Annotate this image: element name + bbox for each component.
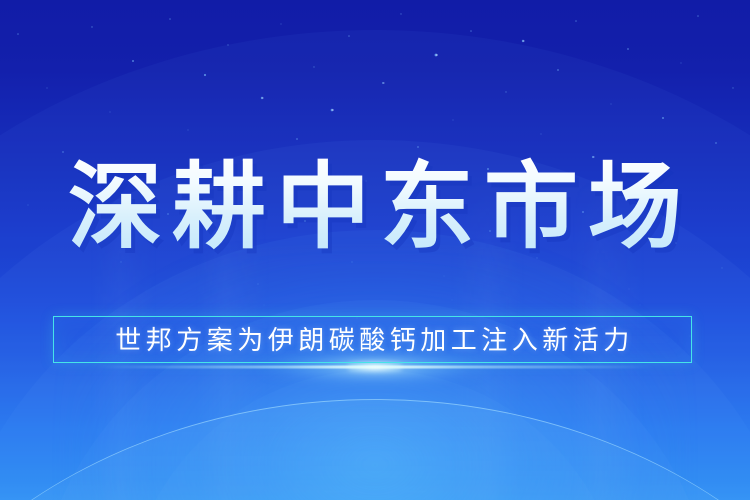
- subtitle-text: 世邦方案为伊朗碳酸钙加工注入新活力: [111, 327, 634, 353]
- page-title: 深耕中东市场: [0, 152, 750, 262]
- promo-banner: 深耕中东市场 世邦方案为伊朗碳酸钙加工注入新活力: [0, 0, 750, 500]
- banner-content: 深耕中东市场 世邦方案为伊朗碳酸钙加工注入新活力: [0, 0, 750, 500]
- subtitle-box: 世邦方案为伊朗碳酸钙加工注入新活力: [53, 316, 692, 363]
